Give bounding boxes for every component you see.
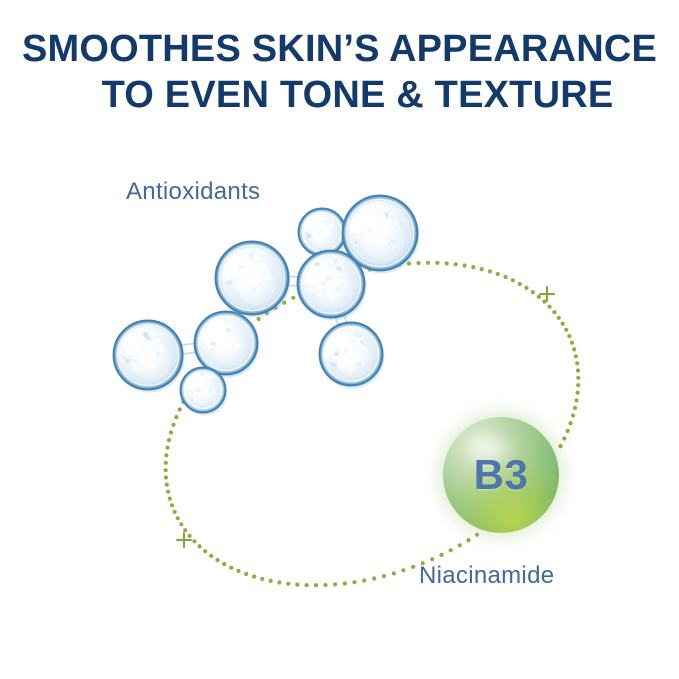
molecule-atom xyxy=(180,367,228,416)
molecule-atom xyxy=(215,241,291,318)
molecule-atom xyxy=(113,320,185,393)
molecule-atom xyxy=(297,250,367,321)
b3-sphere-label: B3 xyxy=(443,417,559,533)
niacinamide-label: Niacinamide xyxy=(419,562,554,590)
molecule-atom xyxy=(319,322,385,389)
antioxidants-label: Antioxidants xyxy=(126,178,260,206)
antioxidant-molecule-cluster xyxy=(0,0,679,679)
promo-graphic-canvas: SMOOTHES SKIN’S APPEARANCE TO EVEN TONE … xyxy=(0,0,679,679)
molecule-atoms xyxy=(113,195,420,416)
